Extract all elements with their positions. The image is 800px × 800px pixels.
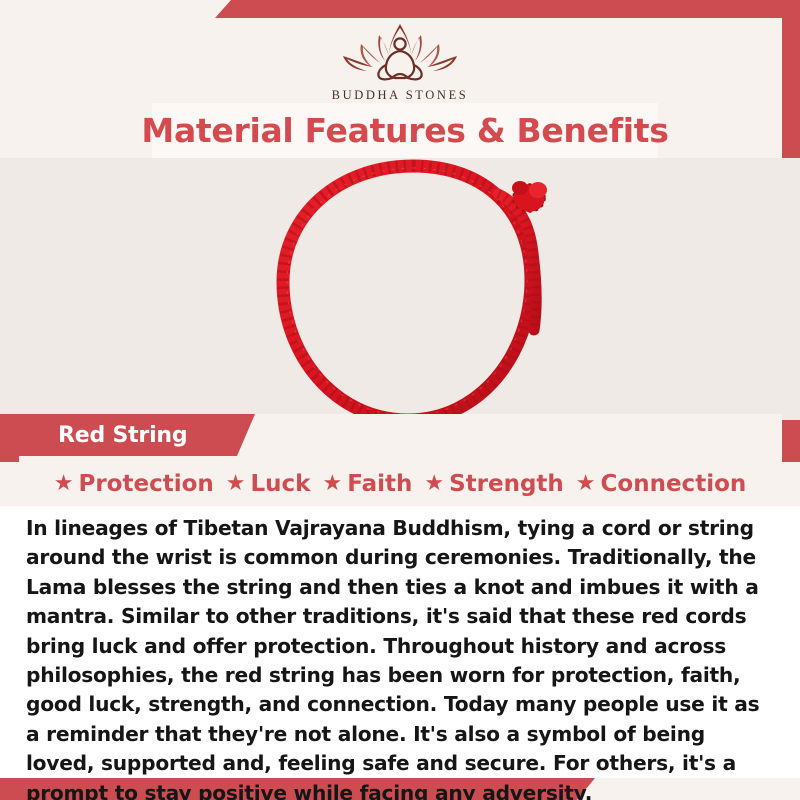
benefit-label: Protection bbox=[78, 471, 213, 497]
star-icon: ★ bbox=[54, 473, 74, 495]
brand-wordmark: BUDDHA STONES bbox=[332, 88, 469, 103]
benefit-label: Strength bbox=[449, 471, 564, 497]
benefit-strength: ★ Strength bbox=[418, 471, 569, 497]
benefit-protection: ★ Protection bbox=[48, 471, 220, 497]
section-ribbon: Red String bbox=[0, 414, 255, 456]
benefit-label: Luck bbox=[251, 471, 311, 497]
benefits-row: ★ Protection ★ Luck ★ Faith ★ Strength ★… bbox=[0, 462, 800, 506]
lotus-meditation-icon bbox=[325, 18, 475, 86]
description-block: In lineages of Tibetan Vajrayana Buddhis… bbox=[0, 506, 800, 778]
star-icon: ★ bbox=[576, 473, 596, 495]
benefit-faith: ★ Faith bbox=[316, 471, 418, 497]
title-banner: Material Features & Benefits bbox=[152, 103, 658, 158]
ribbon-backdrop bbox=[255, 414, 782, 456]
benefit-luck: ★ Luck bbox=[220, 471, 317, 497]
star-icon: ★ bbox=[322, 473, 342, 495]
decor-band-top bbox=[215, 0, 800, 18]
benefit-label: Faith bbox=[347, 471, 412, 497]
star-icon: ★ bbox=[424, 473, 444, 495]
benefit-label: Connection bbox=[601, 471, 747, 497]
red-string-bracelet-image bbox=[248, 158, 578, 420]
brand-logo: BUDDHA STONES bbox=[0, 18, 800, 103]
benefit-connection: ★ Connection bbox=[570, 471, 752, 497]
star-icon: ★ bbox=[226, 473, 246, 495]
infographic-page: BUDDHA STONES Material Features & Benefi… bbox=[0, 0, 800, 800]
description-text: In lineages of Tibetan Vajrayana Buddhis… bbox=[26, 514, 770, 800]
hero-image-area bbox=[0, 158, 800, 420]
page-title: Material Features & Benefits bbox=[141, 111, 668, 150]
ribbon-label: Red String bbox=[58, 423, 187, 448]
